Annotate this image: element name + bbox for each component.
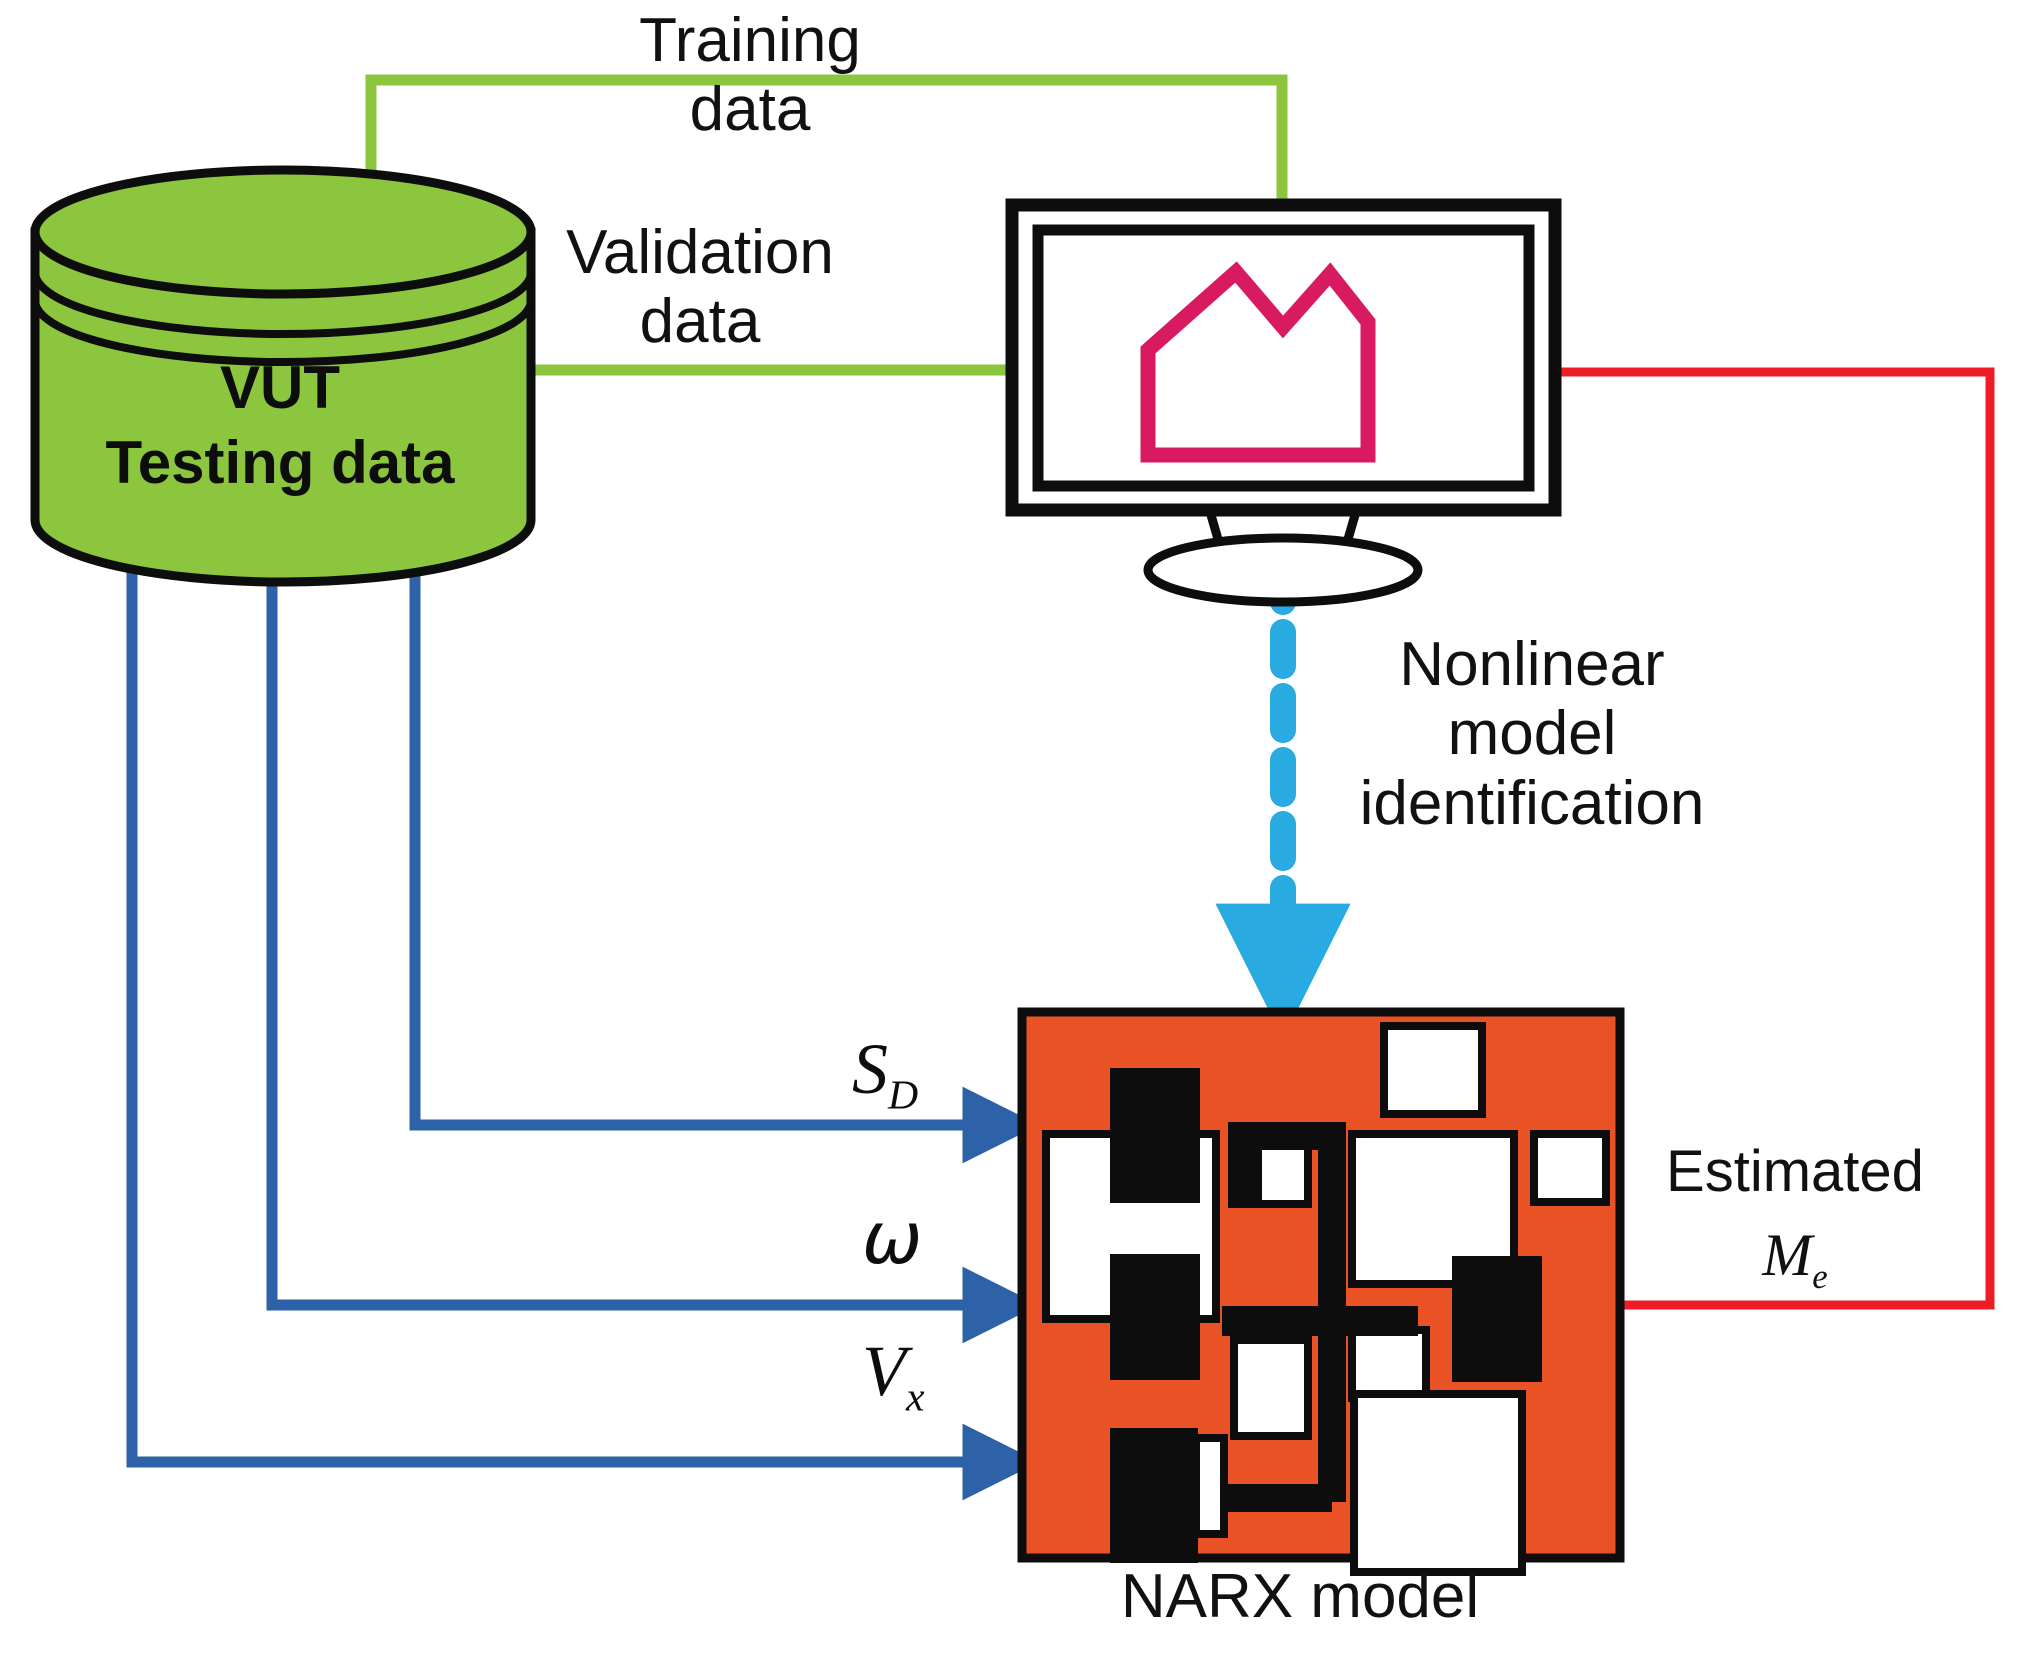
edge-input-vx [132, 545, 1020, 1462]
input-sd-label: SD [852, 1028, 918, 1119]
input-omega-label: ω [862, 1196, 922, 1280]
input-sd-subscript: D [888, 1072, 918, 1118]
database-label: VUTTesting data [30, 350, 530, 500]
narx-block-white-2 [1384, 1026, 1482, 1114]
training-data-label: Training data [560, 6, 940, 145]
narx-block-white-9 [1196, 1438, 1224, 1534]
narx-bar-4 [1222, 1484, 1332, 1512]
narx-block-dark-4 [1452, 1256, 1542, 1382]
input-sd-base: S [852, 1029, 888, 1109]
narx-block-white-5 [1258, 1142, 1308, 1204]
cylinder-top [35, 170, 531, 294]
narx-block-white-7 [1352, 1330, 1426, 1398]
narx-bar-5 [1228, 1122, 1254, 1208]
database-label-line2: Testing data [106, 429, 455, 496]
estimated-label: Estimated [1630, 1140, 1960, 1205]
narx-block-white-8 [1354, 1394, 1522, 1572]
database-label-line1: VUT [220, 354, 340, 421]
input-sd-arrow [415, 545, 1020, 1125]
diagram-canvas: VUTTesting data Training data Validation… [0, 0, 2032, 1664]
edge-input-sd [415, 545, 1020, 1125]
narx-model-label: NARX model [1000, 1562, 1600, 1631]
node-narx-model[interactable] [1022, 1012, 1620, 1572]
node-monitor[interactable] [1012, 205, 1555, 602]
model-identification-label: Nonlinear model identification [1272, 630, 1792, 838]
estimated-me-base: M [1762, 1222, 1812, 1288]
narx-block-dark-1 [1110, 1068, 1200, 1203]
input-omega-base: ω [862, 1196, 922, 1280]
monitor-stand-base [1148, 538, 1418, 602]
input-vx-subscript: x [906, 1374, 925, 1420]
narx-bar-3 [1222, 1306, 1418, 1336]
input-vx-label: Vx [862, 1330, 925, 1421]
narx-block-dark-2 [1110, 1254, 1200, 1380]
estimated-me-subscript: e [1812, 1257, 1827, 1296]
narx-block-white-6 [1234, 1340, 1308, 1436]
input-omega-arrow [272, 545, 1020, 1305]
edge-input-omega [272, 545, 1020, 1305]
estimated-me-symbol: Me [1630, 1222, 1960, 1297]
input-vx-arrow [132, 545, 1020, 1462]
input-vx-base: V [862, 1331, 906, 1411]
narx-block-white-4 [1534, 1134, 1606, 1202]
narx-block-dark-3 [1110, 1428, 1198, 1563]
validation-data-label: Validation data [500, 218, 900, 357]
